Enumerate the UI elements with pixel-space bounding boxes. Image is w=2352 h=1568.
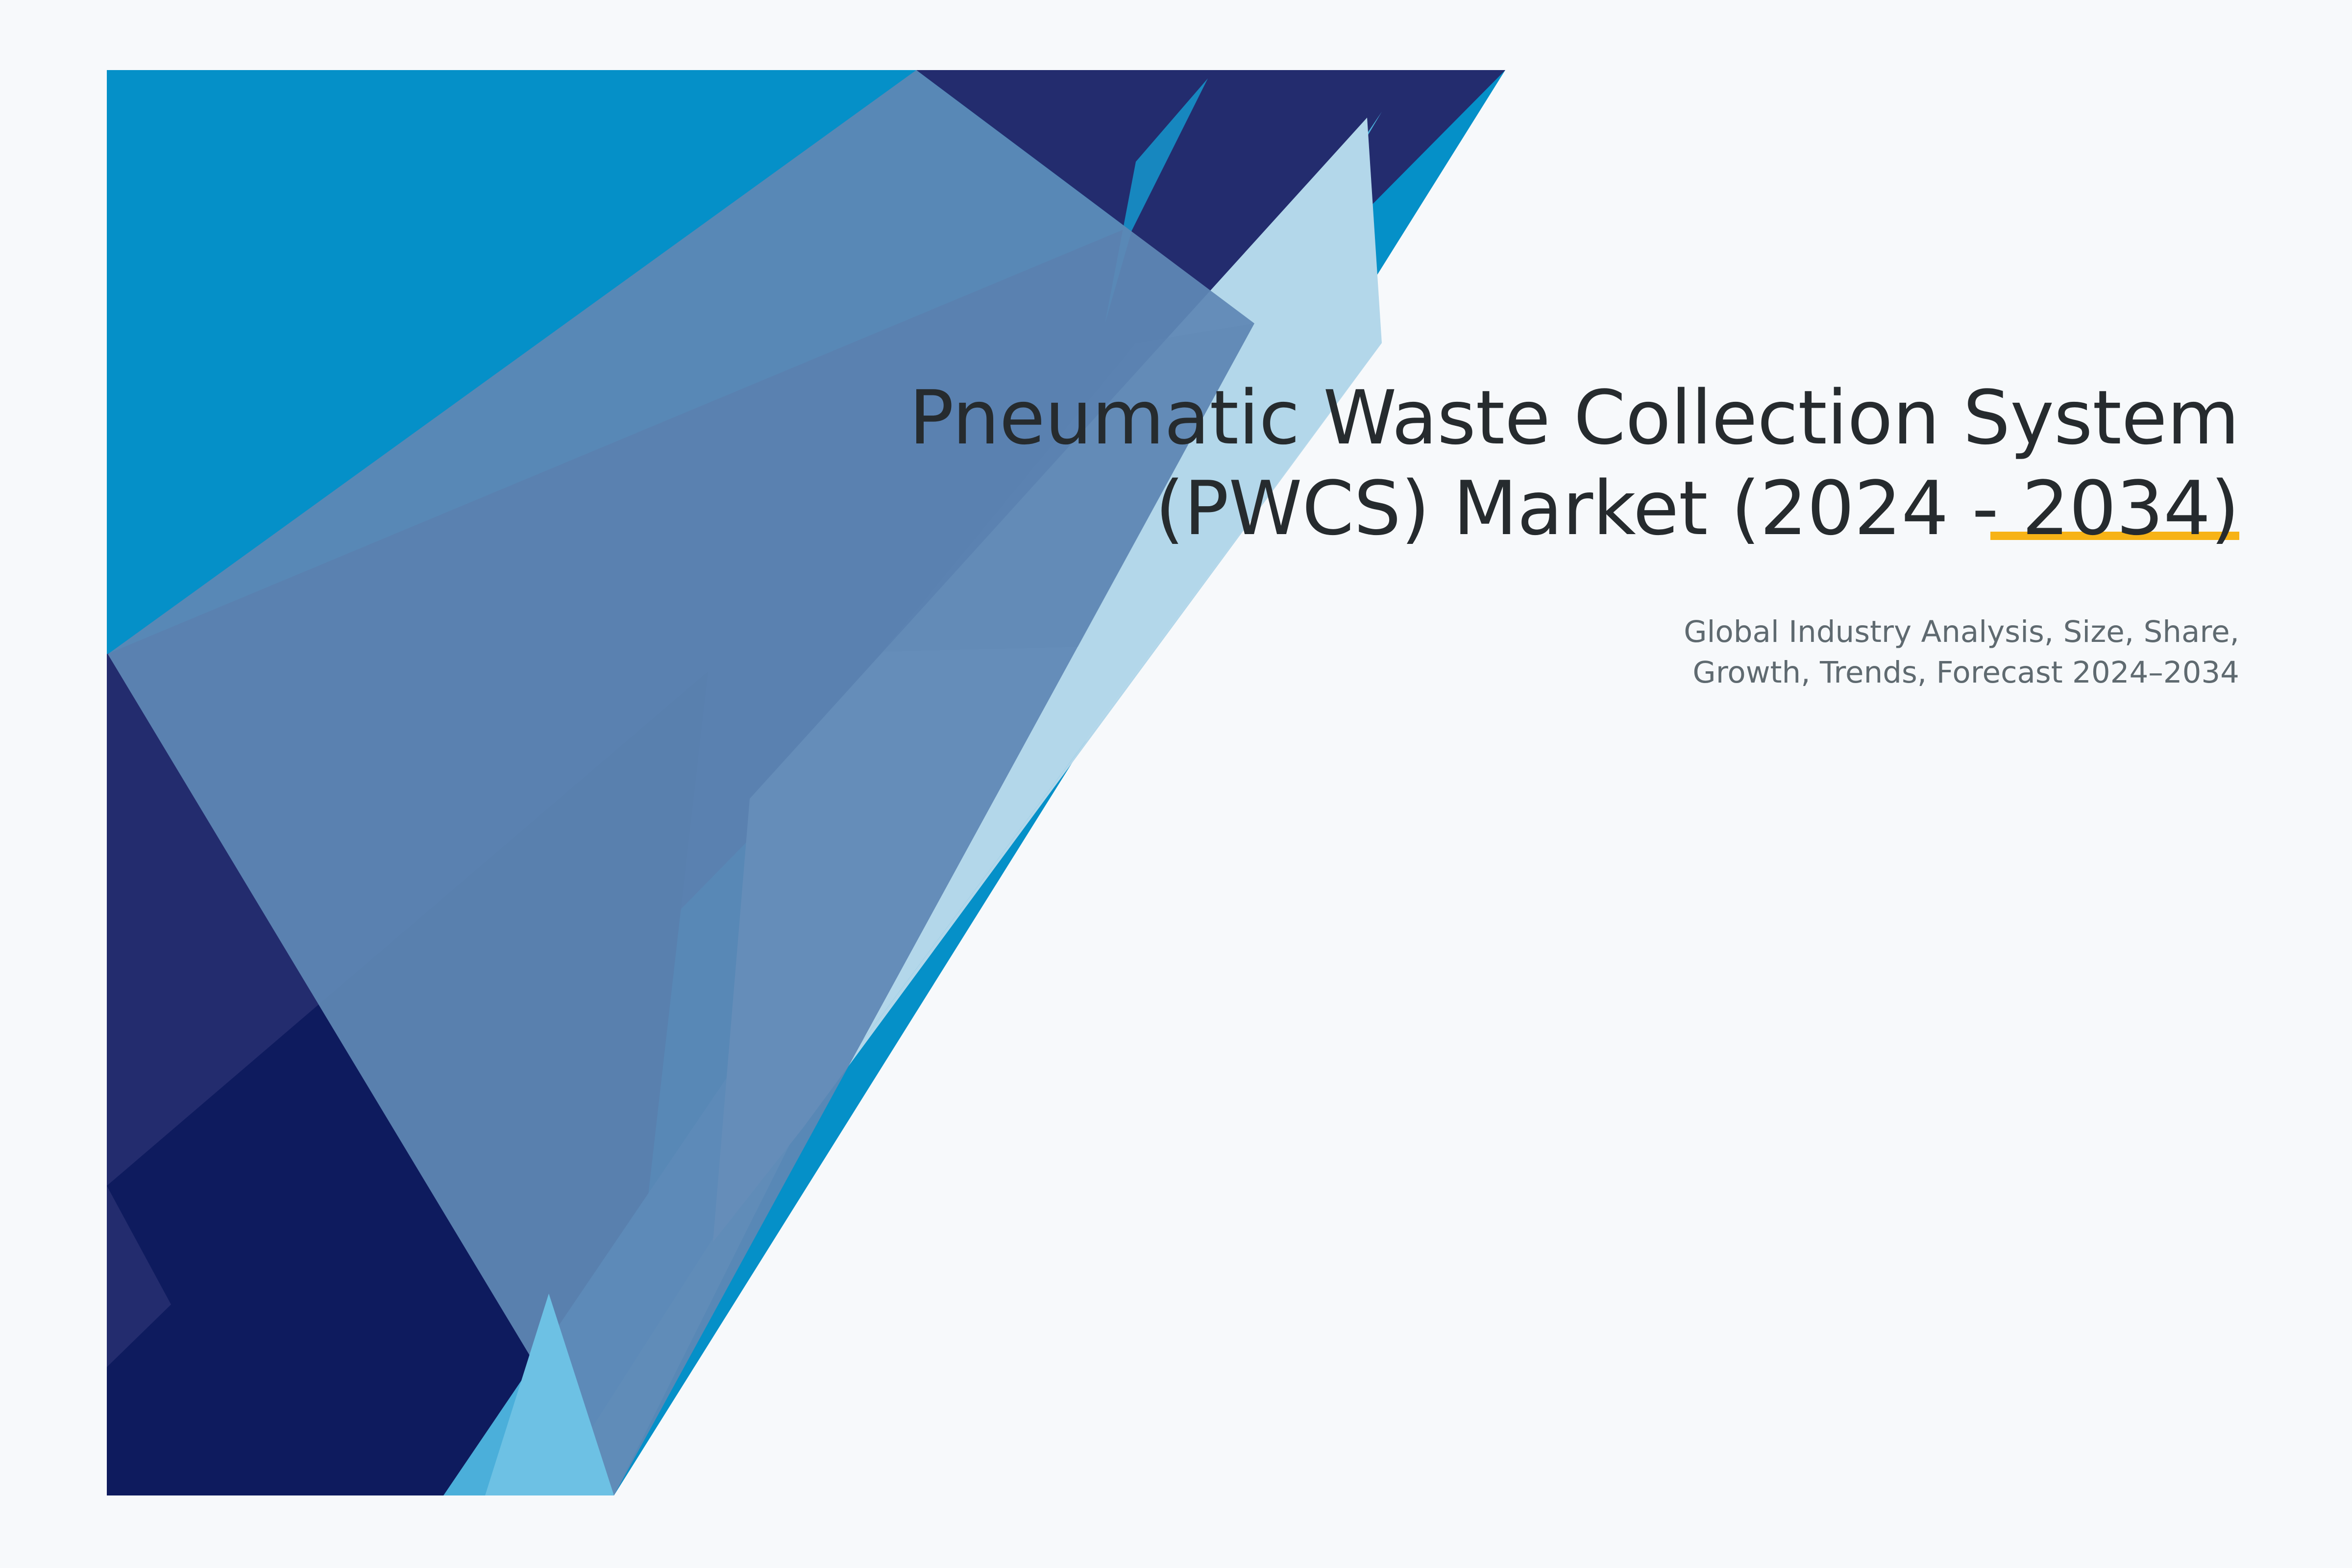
title-wrap: Pneumatic Waste Collection System (PWCS)… bbox=[794, 372, 2239, 554]
cover-text-block: Pneumatic Waste Collection System (PWCS)… bbox=[794, 372, 2239, 693]
abstract-geometric-artwork bbox=[0, 0, 2352, 1568]
shape-deep-navy-base bbox=[107, 1142, 614, 1495]
shape-mid-blue-ribbon bbox=[443, 112, 1382, 1495]
shape-slate-blue-quad bbox=[108, 70, 1254, 1495]
shape-cyan-field bbox=[107, 70, 1505, 1495]
shape-navy-band bbox=[107, 70, 1505, 1495]
shape-cyan-sliver bbox=[1105, 78, 1208, 323]
shape-deep-navy-v bbox=[107, 671, 708, 1495]
shape-sky-blue-ribbon bbox=[549, 118, 1367, 1495]
report-subtitle: Global Industry Analysis, Size, Share, G… bbox=[794, 554, 2239, 693]
shape-navy-apex-wedge bbox=[916, 70, 1505, 323]
shape-bottom-inner-v bbox=[485, 1294, 614, 1495]
report-title: Pneumatic Waste Collection System (PWCS)… bbox=[794, 372, 2239, 554]
cover-page: Pneumatic Waste Collection System (PWCS)… bbox=[0, 0, 2352, 1568]
